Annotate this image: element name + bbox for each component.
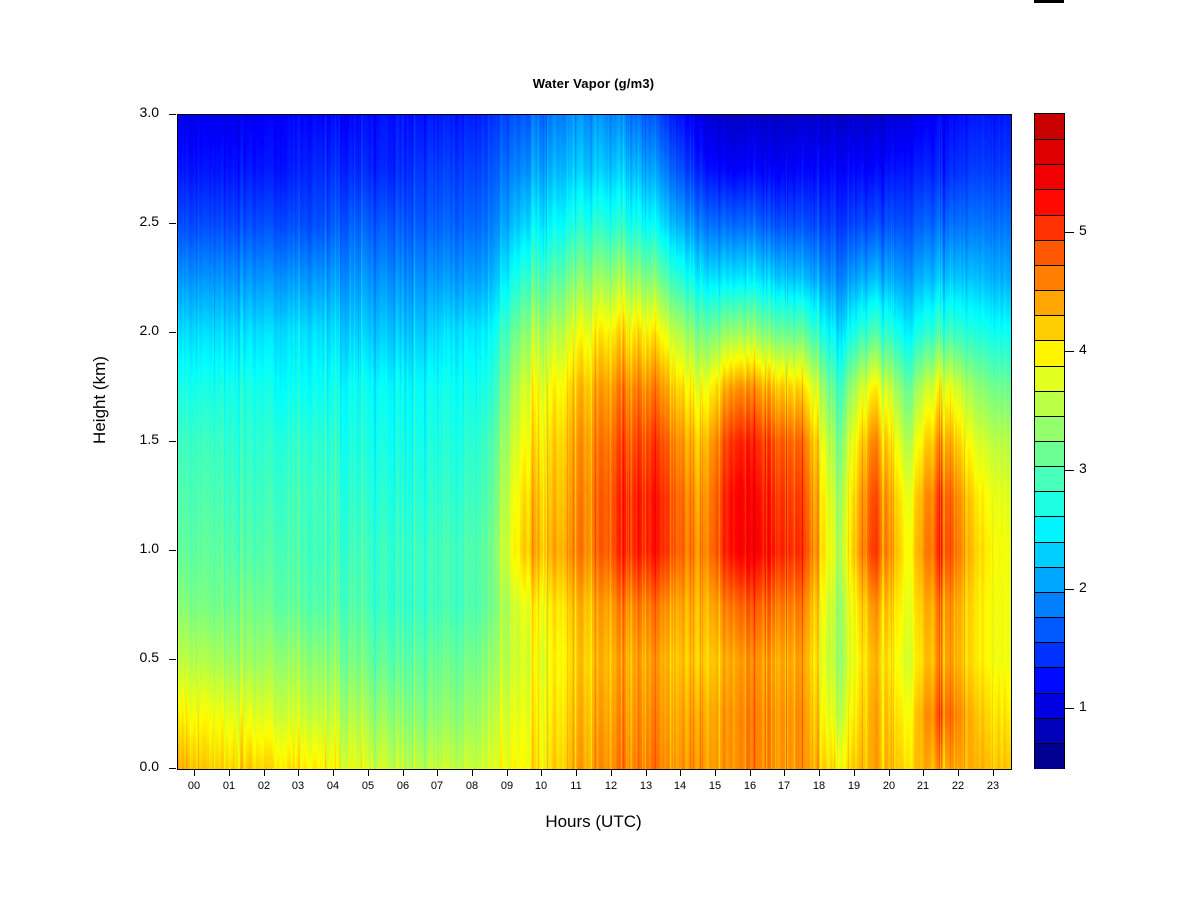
x-tick-mark: [472, 769, 473, 776]
colorbar-band: [1035, 315, 1064, 341]
y-tick-label: 0.0: [87, 758, 159, 774]
x-tick-mark: [819, 769, 820, 776]
colorbar-tick-label: 1: [1079, 698, 1087, 714]
colorbar-band: [1035, 743, 1064, 769]
colorbar-band: [1035, 290, 1064, 316]
colorbar-band: [1035, 441, 1064, 467]
x-tick-mark: [750, 769, 751, 776]
colorbar-band: [1035, 592, 1064, 618]
x-tick-mark: [611, 769, 612, 776]
x-tick-label: 07: [417, 780, 457, 792]
x-tick-mark: [437, 769, 438, 776]
colorbar: [1034, 113, 1065, 769]
colorbar-band: [1035, 516, 1064, 542]
x-tick-label: 19: [834, 780, 874, 792]
x-tick-label: 12: [591, 780, 631, 792]
x-tick-mark: [541, 769, 542, 776]
x-tick-label: 18: [799, 780, 839, 792]
colorbar-band: [1035, 617, 1064, 643]
colorbar-frame-artifact: [1034, 0, 1064, 3]
colorbar-tick-mark: [1065, 589, 1074, 590]
x-tick-label: 08: [452, 780, 492, 792]
x-tick-mark: [854, 769, 855, 776]
colorbar-tick-mark: [1065, 351, 1074, 352]
colorbar-band: [1035, 340, 1064, 366]
x-tick-label: 01: [209, 780, 249, 792]
x-tick-label: 04: [313, 780, 353, 792]
figure-canvas: Water Vapor (g/m3) 0.00.51.01.52.02.53.0…: [0, 0, 1200, 900]
colorbar-tick-label: 2: [1079, 579, 1087, 595]
y-axis-title: Height (km): [90, 340, 110, 460]
x-tick-mark: [507, 769, 508, 776]
y-tick-label: 0.5: [87, 649, 159, 665]
x-tick-mark: [715, 769, 716, 776]
colorbar-band: [1035, 642, 1064, 668]
colorbar-band: [1035, 240, 1064, 266]
y-tick-mark: [169, 332, 176, 333]
x-tick-mark: [298, 769, 299, 776]
x-tick-label: 11: [556, 780, 596, 792]
x-tick-label: 00: [174, 780, 214, 792]
colorbar-tick-mark: [1065, 470, 1074, 471]
colorbar-band: [1035, 265, 1064, 291]
y-tick-mark: [169, 768, 176, 769]
x-tick-mark: [403, 769, 404, 776]
x-tick-mark: [264, 769, 265, 776]
x-tick-mark: [576, 769, 577, 776]
colorbar-band: [1035, 416, 1064, 442]
x-tick-label: 15: [695, 780, 735, 792]
x-tick-label: 03: [278, 780, 318, 792]
y-tick-label: 1.0: [87, 540, 159, 556]
x-tick-label: 14: [660, 780, 700, 792]
heatmap-plot-area: [177, 114, 1012, 770]
x-tick-label: 21: [903, 780, 943, 792]
colorbar-tick-label: 5: [1079, 222, 1087, 238]
y-tick-mark: [169, 223, 176, 224]
y-tick-mark: [169, 550, 176, 551]
colorbar-tick-label: 4: [1079, 341, 1087, 357]
y-tick-label: 3.0: [87, 104, 159, 120]
colorbar-band: [1035, 466, 1064, 492]
x-tick-mark: [333, 769, 334, 776]
x-tick-label: 10: [521, 780, 561, 792]
page-title: Water Vapor (g/m3): [177, 76, 1010, 91]
x-tick-label: 17: [764, 780, 804, 792]
x-tick-mark: [680, 769, 681, 776]
colorbar-band: [1035, 718, 1064, 744]
colorbar-band: [1035, 391, 1064, 417]
x-tick-label: 05: [348, 780, 388, 792]
colorbar-band: [1035, 542, 1064, 568]
heatmap-image: [178, 115, 1011, 769]
colorbar-band: [1035, 567, 1064, 593]
x-tick-mark: [923, 769, 924, 776]
colorbar-band: [1035, 189, 1064, 215]
colorbar-band: [1035, 366, 1064, 392]
x-tick-mark: [646, 769, 647, 776]
colorbar-band: [1035, 164, 1064, 190]
colorbar-band: [1035, 114, 1064, 140]
colorbar-band: [1035, 693, 1064, 719]
colorbar-band: [1035, 667, 1064, 693]
x-tick-label: 22: [938, 780, 978, 792]
y-tick-mark: [169, 659, 176, 660]
colorbar-band: [1035, 139, 1064, 165]
colorbar-tick-mark: [1065, 232, 1074, 233]
x-tick-mark: [889, 769, 890, 776]
colorbar-band: [1035, 491, 1064, 517]
x-tick-mark: [194, 769, 195, 776]
colorbar-tick-mark: [1065, 708, 1074, 709]
x-tick-mark: [368, 769, 369, 776]
x-tick-mark: [958, 769, 959, 776]
colorbar-tick-label: 3: [1079, 460, 1087, 476]
x-tick-mark: [993, 769, 994, 776]
x-axis-title: Hours (UTC): [177, 812, 1010, 832]
y-tick-label: 2.0: [87, 322, 159, 338]
x-tick-label: 23: [973, 780, 1013, 792]
y-tick-mark: [169, 441, 176, 442]
x-tick-mark: [784, 769, 785, 776]
y-tick-label: 2.5: [87, 213, 159, 229]
x-tick-mark: [229, 769, 230, 776]
y-tick-mark: [169, 114, 176, 115]
colorbar-band: [1035, 215, 1064, 241]
